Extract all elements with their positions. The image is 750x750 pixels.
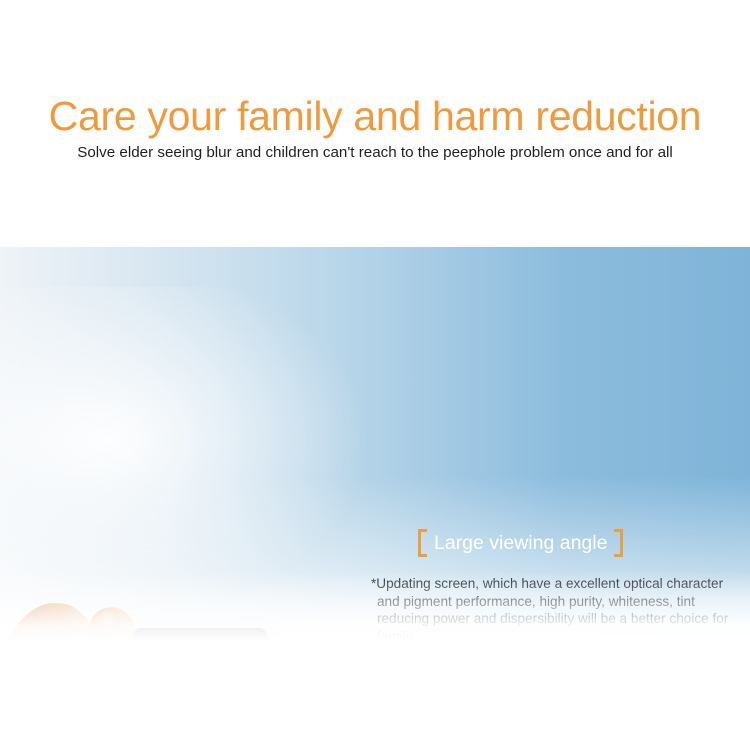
page-subtitle: Solve elder seeing blur and children can… — [0, 142, 750, 164]
device-front-face: MENU 👤 — [133, 628, 267, 641]
bracket-right-icon — [614, 529, 623, 557]
feature-panel: Large viewing angle *Updating screen, wh… — [0, 247, 750, 641]
header-band: Care your family and harm reduction Solv… — [0, 0, 750, 247]
bracket-left-icon — [418, 529, 427, 557]
digital-peephole-viewer: MENU 👤 — [123, 619, 279, 641]
feature-heading: Large viewing angle — [418, 528, 623, 558]
footer-band — [0, 641, 750, 750]
feature-heading-label: Large viewing angle — [427, 529, 614, 557]
page-title: Care your family and harm reduction — [0, 92, 750, 140]
lens-icon — [157, 634, 163, 640]
feature-description: *Updating screen, which have a excellent… — [371, 575, 743, 641]
panel-glow — [0, 287, 380, 627]
